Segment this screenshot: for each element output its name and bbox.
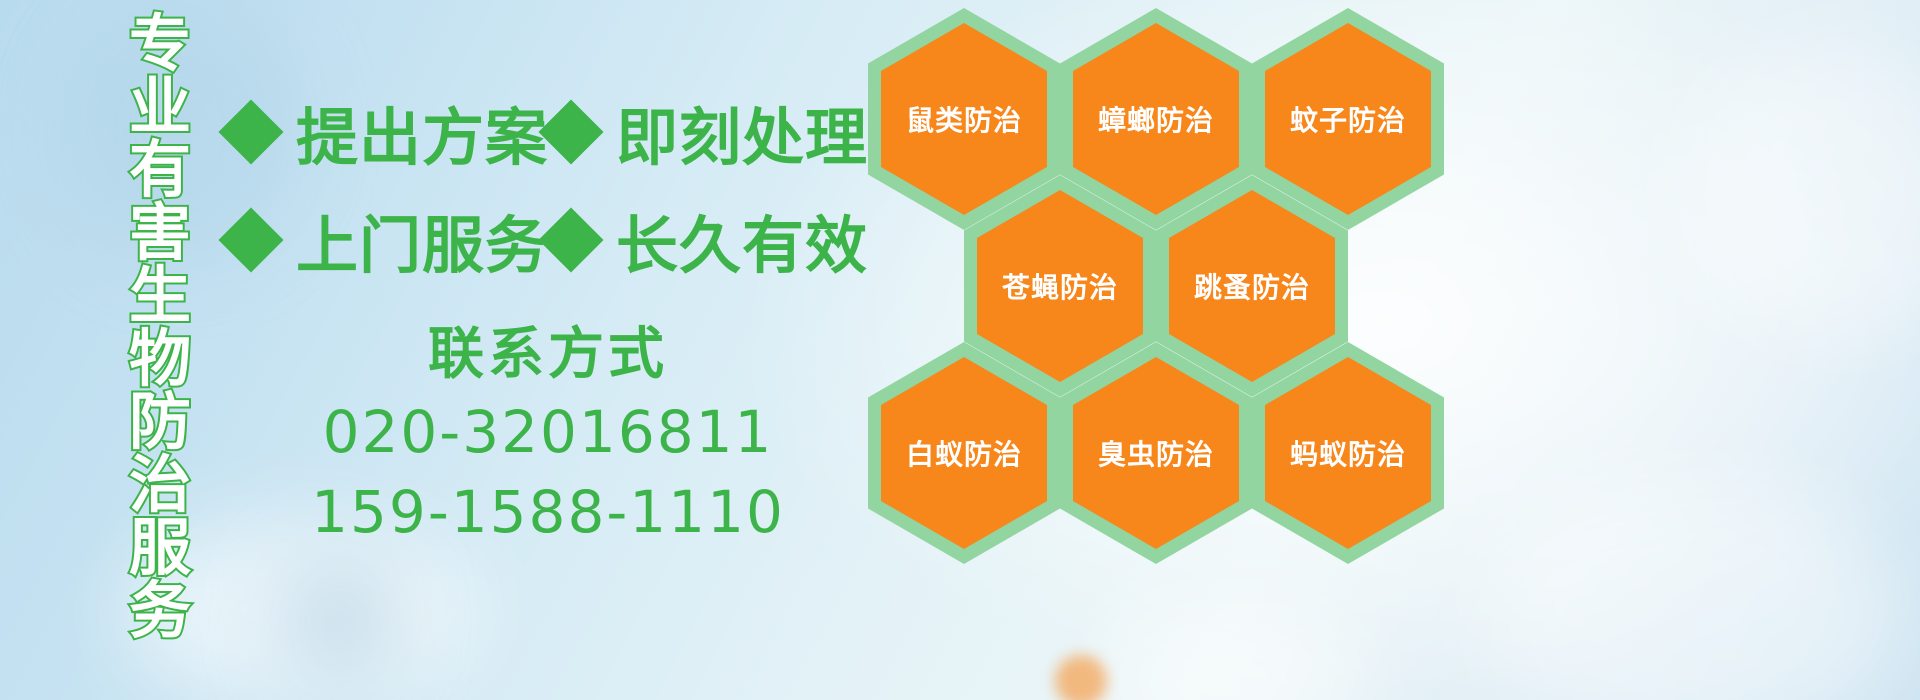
selling-points-list: 提出方案 即刻处理 上门服务 长久有效	[228, 78, 868, 294]
service-hex-label: 苍蝇防治	[1002, 266, 1118, 306]
diamond-icon	[218, 207, 283, 272]
vertical-headline-char: 业	[129, 75, 191, 138]
vertical-headline-char: 专	[129, 12, 191, 75]
vertical-headline-char: 服	[129, 516, 191, 579]
vertical-headline-char: 害	[129, 201, 191, 264]
hex-inner: 白蚁防治	[881, 357, 1047, 549]
selling-point-label: 长久有效	[616, 195, 868, 285]
selling-point: 提出方案	[228, 87, 548, 177]
background-bokeh-dot	[1055, 655, 1107, 700]
vertical-headline-char: 务	[129, 579, 191, 642]
selling-point-label: 即刻处理	[616, 87, 868, 177]
diamond-icon	[538, 99, 603, 164]
contact-title: 联系方式	[228, 318, 868, 392]
selling-point: 上门服务	[228, 195, 548, 285]
vertical-headline-char: 有	[129, 138, 191, 201]
vertical-headline-char: 治	[129, 453, 191, 516]
selling-point: 长久有效	[548, 195, 868, 285]
hex-inner: 苍蝇防治	[977, 190, 1143, 382]
vertical-headline-char: 物	[129, 327, 191, 390]
service-hex-label: 跳蚤防治	[1194, 266, 1310, 306]
hex-inner: 蚂蚁防治	[1265, 357, 1431, 549]
service-hex-label: 鼠类防治	[906, 99, 1022, 139]
hex-inner: 蟑螂防治	[1073, 23, 1239, 215]
hex-inner: 臭虫防治	[1073, 357, 1239, 549]
selling-point-label: 上门服务	[296, 195, 548, 285]
service-hex-label: 蚂蚁防治	[1290, 433, 1406, 473]
selling-points-row: 提出方案 即刻处理	[228, 78, 868, 186]
background-blob	[1480, 480, 1900, 700]
background-blob	[1680, 40, 1920, 340]
contact-block: 联系方式 020-32016811 159-1588-1110	[228, 318, 868, 552]
selling-points-row: 上门服务 长久有效	[228, 186, 868, 294]
background-blob	[1100, 600, 1360, 700]
vertical-headline-char: 生	[129, 264, 191, 327]
contact-phone-landline[interactable]: 020-32016811	[228, 392, 868, 472]
service-hex-label: 蟑螂防治	[1098, 99, 1214, 139]
service-hex-label: 蚊子防治	[1290, 99, 1406, 139]
vertical-headline: 专 业 有 害 生 物 防 治 服 务	[112, 12, 208, 572]
promo-banner: 专 业 有 害 生 物 防 治 服 务 提出方案 即刻处理 上门服务	[0, 0, 1920, 700]
diamond-icon	[218, 99, 283, 164]
vertical-headline-char: 防	[129, 390, 191, 453]
background-blob	[280, 560, 400, 680]
service-hex-label: 白蚁防治	[906, 433, 1022, 473]
contact-phone-mobile[interactable]: 159-1588-1110	[228, 472, 868, 552]
hex-inner: 蚊子防治	[1265, 23, 1431, 215]
selling-point-label: 提出方案	[296, 87, 548, 177]
selling-point: 即刻处理	[548, 87, 868, 177]
hex-inner: 鼠类防治	[881, 23, 1047, 215]
service-hex-label: 臭虫防治	[1098, 433, 1214, 473]
service-hex-grid: 鼠类防治 蟑螂防治 蚊子防治 苍蝇防治 跳蚤防治 白蚁防	[860, 0, 1460, 570]
diamond-icon	[538, 207, 603, 272]
hex-inner: 跳蚤防治	[1169, 190, 1335, 382]
